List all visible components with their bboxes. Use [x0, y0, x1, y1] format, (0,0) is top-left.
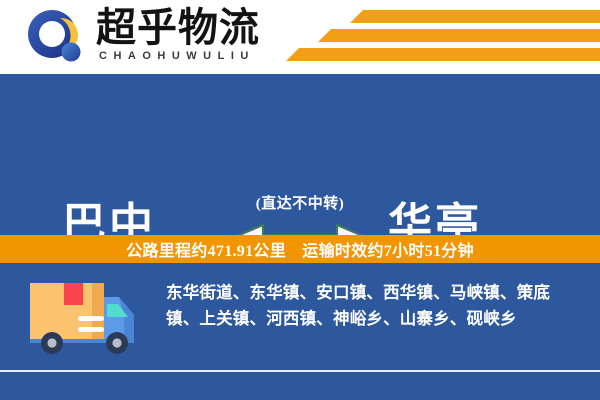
coverage-section: 东华街道、东华镇、安口镇、西华镇、马峡镇、策底镇、上关镇、河西镇、神峪乡、山寨乡…: [0, 263, 600, 370]
stripe-bottom: [286, 48, 600, 61]
brand-name-cn: 超乎物流: [96, 6, 260, 50]
stripe-top: [350, 10, 600, 23]
distance-duration-text: 公路里程约471.91公里 运输时效约7小时51分钟: [126, 237, 474, 261]
direct-route-note: (直达不中转): [0, 192, 600, 213]
coverage-areas-text: 东华街道、东华镇、安口镇、西华镇、马峡镇、策底镇、上关镇、河西镇、神峪乡、山寨乡…: [166, 280, 582, 332]
route-panel: 巴中 (直达不中转) 【往返运输】 华亭: [0, 74, 600, 235]
banner-header: 超乎物流 CHAOHUWULIU: [0, 0, 600, 74]
footer-strip: [0, 372, 600, 400]
circle-q-logo-icon: [26, 8, 88, 68]
delivery-truck-icon: [24, 275, 142, 357]
logistics-route-banner: 超乎物流 CHAOHUWULIU 巴中 (直达不中转) 【往返运输】 华亭 公路…: [0, 0, 600, 400]
decorative-stripes: [270, 8, 600, 66]
stripe-middle: [318, 29, 600, 42]
brand-name-en: CHAOHUWULIU: [99, 50, 255, 62]
distance-duration-bar: 公路里程约471.91公里 运输时效约7小时51分钟: [0, 235, 600, 263]
